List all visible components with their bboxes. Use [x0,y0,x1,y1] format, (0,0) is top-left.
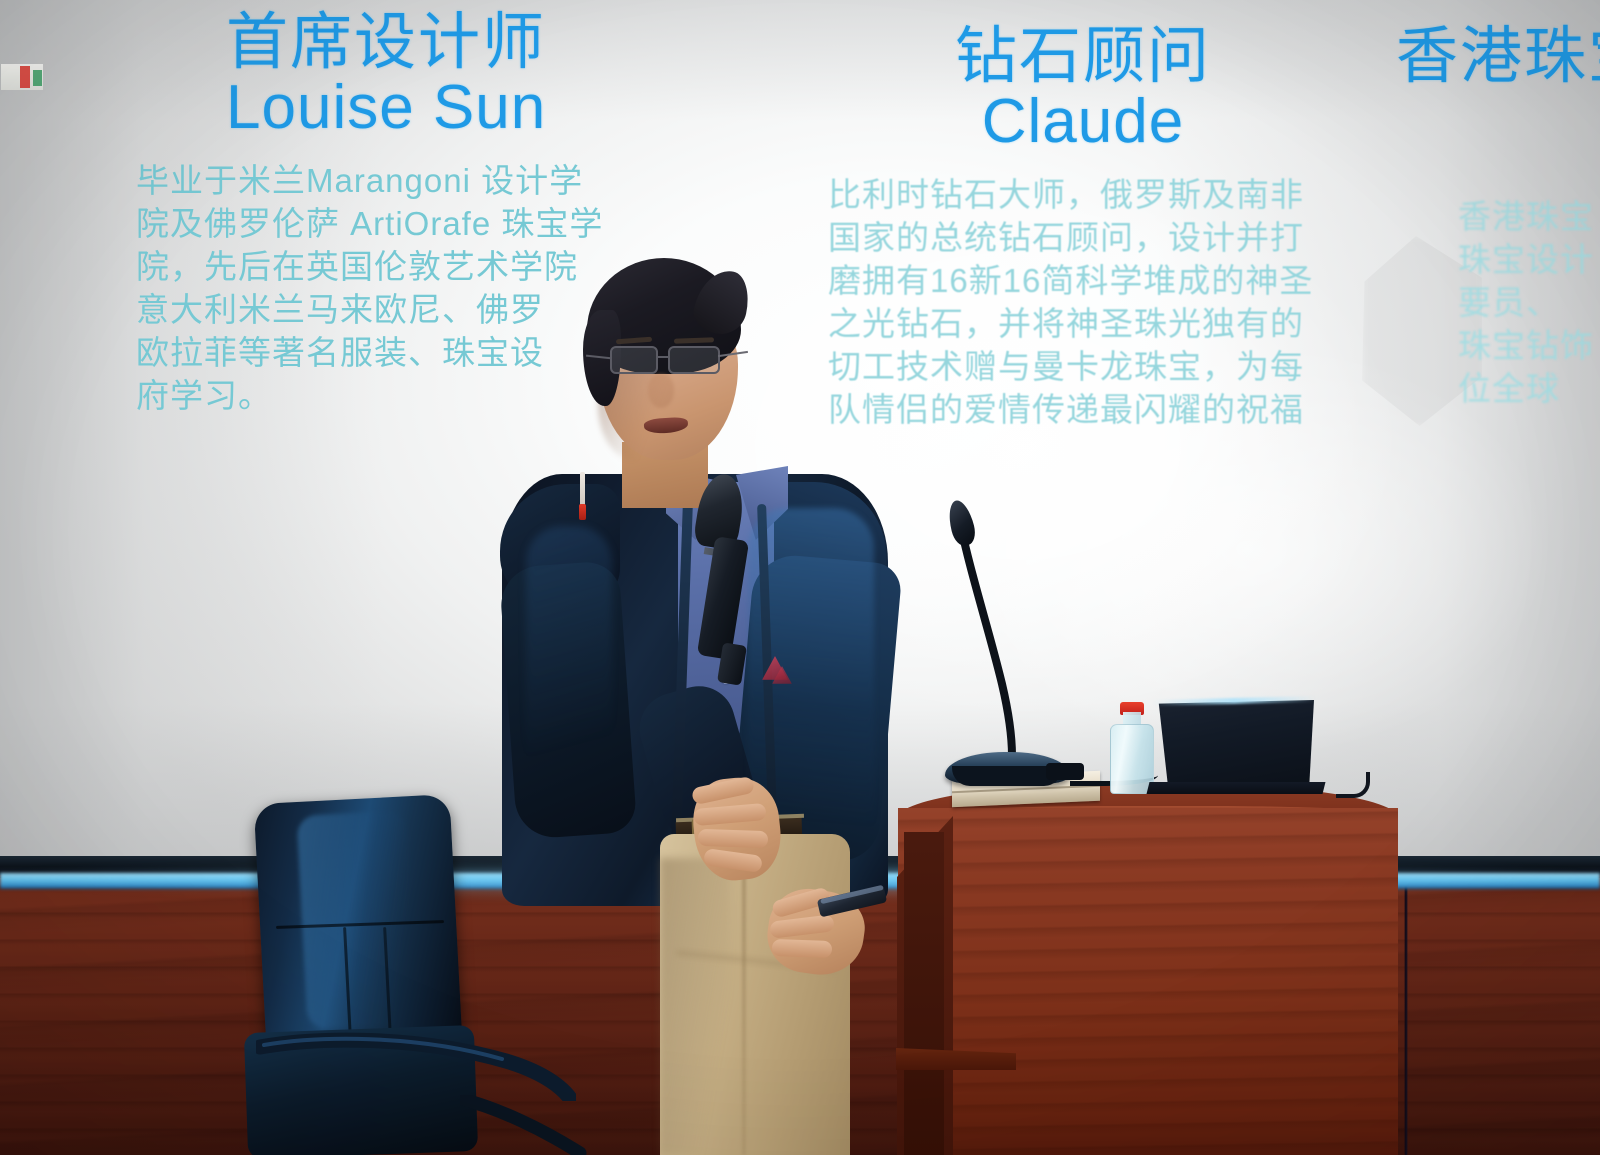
speaker-person [480,258,900,1155]
slide-heading-en: Claude [828,87,1338,156]
eyeglass-lens-right [668,346,720,374]
finger [698,829,769,848]
podium-left-wing [904,832,944,1155]
jacket-sheen-left [526,526,612,826]
bottle-label-red-band [20,66,30,88]
eyeglass-bridge [658,356,670,358]
slide-body-line: 要员、 [1458,281,1600,324]
slide-heading-en: Louise Sun [226,73,603,142]
laptop-screen-back [1154,700,1314,790]
eyeglass-temple-right [718,351,748,357]
bottle-label-green-band [33,70,42,86]
photo-scene: 首席设计师 Louise Sun 毕业于米兰Marangoni 设计学 院及佛罗… [0,0,1600,1155]
wooden-podium [898,764,1398,1155]
slide-body-line: 珠宝钻饰 [1458,324,1600,367]
slide-heading-cn: 香港珠宝 [1396,22,1600,91]
slide-heading-hongkong: 香港珠宝 [1396,22,1600,91]
slide-body-line: 位全球 [1458,367,1600,410]
speaker-nose [648,374,674,408]
slide-body-hongkong: 香港珠宝 珠宝设计 要员、 珠宝钻饰 位全球 [1396,195,1600,410]
trousers-crease [742,858,746,1155]
slide-column-hongkong: 香港珠宝 香港珠宝 珠宝设计 要员、 珠宝钻饰 位全球 [1396,22,1600,410]
eyeglass-lens-left [610,346,658,374]
chair-backrest-highlight [296,810,417,1029]
podium-grain [898,808,1398,1155]
slide-heading-consultant: 钻石顾问 Claude [828,22,1338,157]
slide-body-line: 香港珠宝 [1458,195,1600,238]
water-bottle [1110,702,1154,794]
jacket-zipper-pull-cord [580,472,585,506]
slide-body-line: 队情侣的爱情传递最闪耀的祝福 [828,388,1338,431]
slide-body-line: 毕业于米兰Marangoni 设计学 [136,159,603,202]
slide-body-line: 国家的总统钻石顾问，设计并打 [828,216,1338,259]
bottle-body [1110,724,1154,794]
trousers-shadow [660,858,730,1155]
slide-body-line: 院及佛罗伦萨 ArtiOrafe 珠宝学 [136,202,603,245]
slide-heading-cn: 钻石顾问 [828,22,1338,91]
paper-edge [952,785,1100,793]
slide-body-consultant: 比利时钻石大师，俄罗斯及南非 国家的总统钻石顾问，设计并打 磨拥有16新16简科… [828,173,1338,431]
slide-column-diamond-consultant: 钻石顾问 Claude 比利时钻石大师，俄罗斯及南非 国家的总统钻石顾问，设计并… [828,22,1338,431]
slide-body-line: 切工技术赠与曼卡龙珠宝，为每 [828,345,1338,388]
wall-cable [1404,880,1408,1155]
slide-body-line: 比利时钻石大师，俄罗斯及南非 [828,173,1338,216]
slide-heading-designer: 首席设计师 Louise Sun [136,8,603,143]
jacket-zipper-pull-tip [579,504,586,520]
laptop-base [1147,782,1326,794]
eyeglasses-icon [604,344,738,378]
slide-body-line: 之光钻石，并将神圣珠光独有的 [828,302,1338,345]
slide-heading-cn: 首席设计师 [226,8,603,77]
slide-body-line: 磨拥有16新16简科学堆成的神圣 [828,259,1338,302]
podium-front-face [898,808,1398,1155]
finger [772,939,833,958]
slide-body-line: 珠宝设计 [1458,238,1600,281]
